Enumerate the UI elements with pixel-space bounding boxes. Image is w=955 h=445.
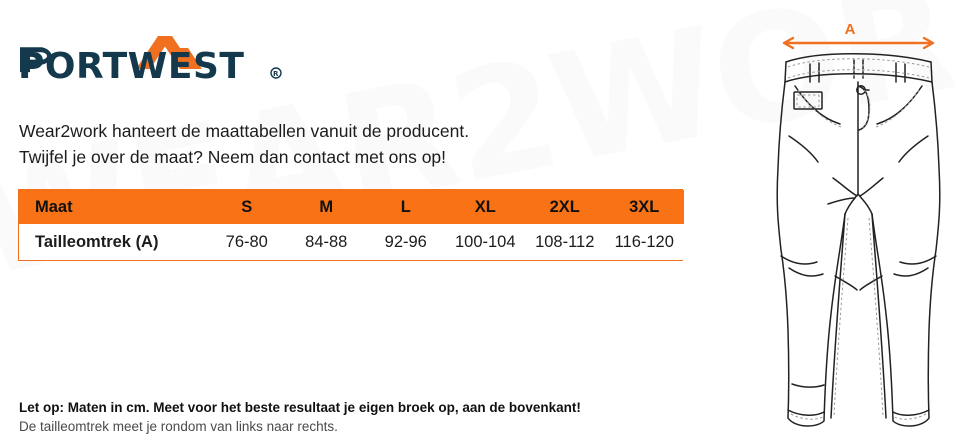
size-table-container: Maat S M L XL 2XL 3XL Tailleomtrek (A) 7…: [18, 189, 683, 261]
header-cell-l: L: [366, 190, 446, 224]
trouser-outline-icon: [777, 54, 940, 426]
cell-waist-l: 92-96: [366, 224, 446, 260]
table-row: Tailleomtrek (A) 76-80 84-88 92-96 100-1…: [19, 224, 684, 260]
dimension-label-a: A: [845, 21, 856, 38]
size-table-body: Tailleomtrek (A) 76-80 84-88 92-96 100-1…: [19, 224, 684, 260]
header-cell-3xl: 3XL: [605, 190, 685, 224]
header-cell-m: M: [287, 190, 367, 224]
cell-waist-s: 76-80: [207, 224, 287, 260]
header-cell-label: Maat: [19, 190, 207, 224]
intro-line-2: Twijfel je over de maat? Neem dan contac…: [19, 144, 469, 170]
wordmark-icon: PORTWEST: [18, 46, 244, 87]
cell-waist-xl: 100-104: [446, 224, 526, 260]
footer-note-bold: Let op: Maten in cm. Meet voor het beste…: [19, 398, 581, 417]
header-cell-2xl: 2XL: [525, 190, 605, 224]
logo-mark-icon: PORTWEST R: [18, 26, 288, 104]
svg-text:R: R: [273, 70, 279, 78]
footer-notes: Let op: Maten in cm. Meet voor het beste…: [19, 398, 581, 436]
size-chart-page: WEAR2WORK PORTWEST R Wear2work hanteert: [0, 0, 955, 445]
row-label-waist: Tailleomtrek (A): [19, 224, 207, 260]
registered-trademark-icon: R: [271, 68, 281, 78]
svg-text:PORTWEST: PORTWEST: [18, 46, 244, 87]
table-header-row: Maat S M L XL 2XL 3XL: [19, 190, 684, 224]
header-cell-s: S: [207, 190, 287, 224]
cell-waist-m: 84-88: [287, 224, 367, 260]
portwest-logo: PORTWEST R: [18, 26, 288, 104]
cell-waist-3xl: 116-120: [605, 224, 685, 260]
cell-waist-2xl: 108-112: [525, 224, 605, 260]
size-table-header: Maat S M L XL 2XL 3XL: [19, 190, 684, 224]
header-cell-xl: XL: [446, 190, 526, 224]
size-table: Maat S M L XL 2XL 3XL Tailleomtrek (A) 7…: [19, 190, 684, 260]
trouser-diagram: A: [745, 18, 955, 445]
footer-note-sub: De tailleomtrek meet je rondom van links…: [19, 417, 581, 436]
intro-text: Wear2work hanteert de maattabellen vanui…: [19, 118, 469, 170]
dimension-arrow-icon: [784, 38, 933, 48]
intro-line-1: Wear2work hanteert de maattabellen vanui…: [19, 118, 469, 144]
